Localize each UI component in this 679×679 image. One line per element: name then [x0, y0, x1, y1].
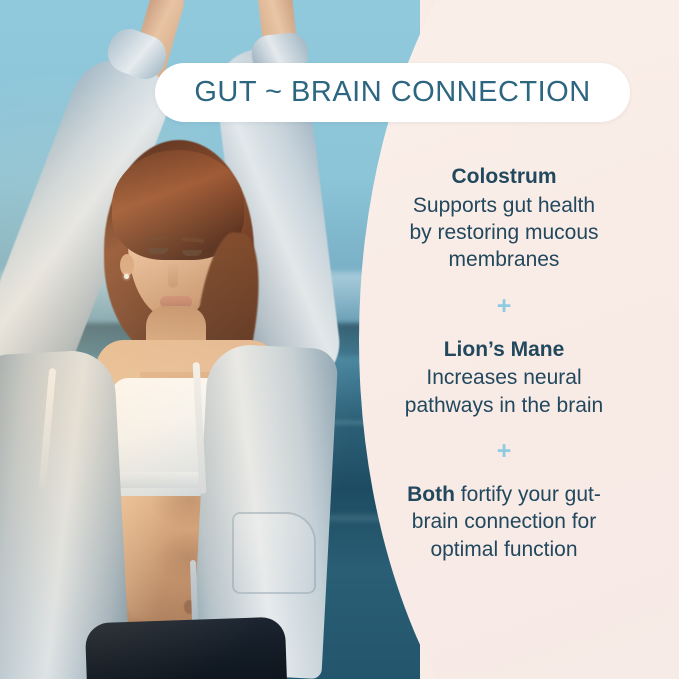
nose [168, 262, 178, 288]
benefit-body-colostrum: Supports gut health by restoring mucous … [354, 192, 654, 274]
title-pill: GUT ~ BRAIN CONNECTION [155, 63, 630, 122]
right-eye [182, 250, 202, 256]
benefit-heading-lions-mane: Lion’s Mane [354, 336, 654, 364]
benefit-line: Supports gut health [413, 194, 595, 217]
benefit-block-lions-mane: Lion’s Mane Increases neural pathways in… [354, 336, 654, 419]
leggings [85, 617, 287, 679]
hoodie-pocket [232, 512, 316, 594]
benefit-body-both: Both fortify your gut- brain connection … [354, 481, 654, 563]
benefit-line: fortify your gut- [455, 483, 601, 506]
page-title: GUT ~ BRAIN CONNECTION [194, 76, 590, 109]
benefit-lead-both: Both [407, 483, 455, 506]
left-eye [148, 248, 168, 254]
benefit-line: pathways in the brain [405, 394, 603, 417]
benefit-line: Increases neural [426, 366, 581, 389]
benefit-line: optimal function [430, 538, 577, 561]
benefit-body-lions-mane: Increases neural pathways in the brain [354, 364, 654, 419]
benefit-line: brain connection for [412, 510, 596, 533]
infographic-canvas: GUT ~ BRAIN CONNECTION Colostrum Support… [0, 0, 679, 679]
benefits-list: Colostrum Supports gut health by restori… [354, 163, 654, 563]
benefit-line: by restoring mucous [409, 221, 598, 244]
benefit-block-colostrum: Colostrum Supports gut health by restori… [354, 163, 654, 274]
benefit-heading-colostrum: Colostrum [354, 163, 654, 191]
benefit-line: membranes [449, 248, 560, 271]
earring [124, 274, 129, 279]
plus-separator-2: + [354, 439, 654, 464]
benefit-block-both: Both fortify your gut- brain connection … [354, 481, 654, 563]
plus-separator-1: + [354, 294, 654, 319]
ear [120, 254, 134, 276]
